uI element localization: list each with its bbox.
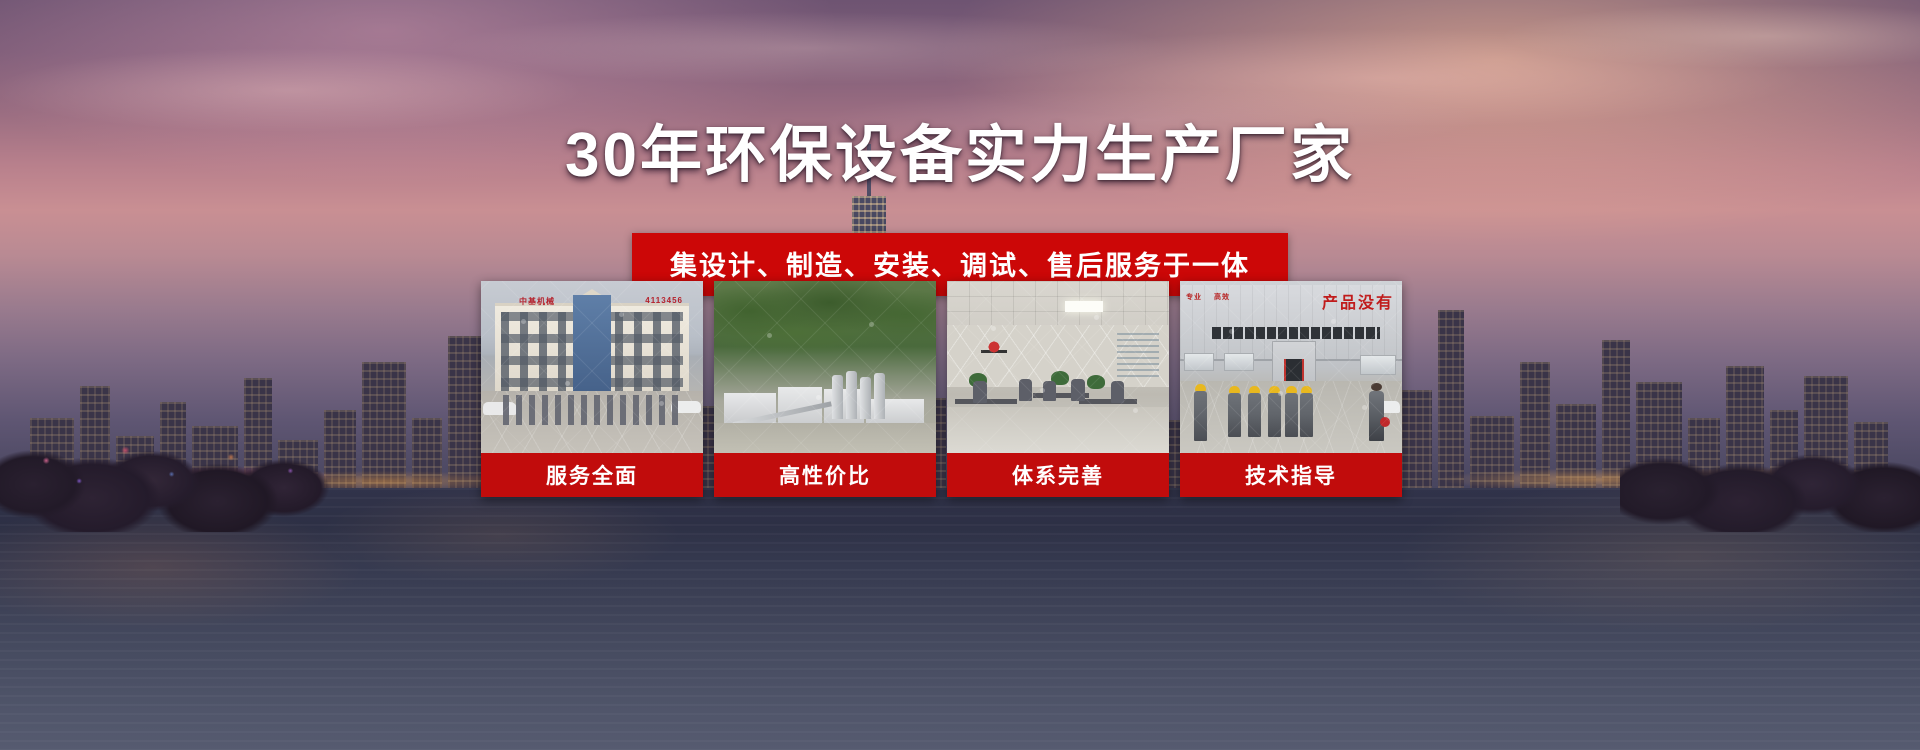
card-photo-aerial-plant xyxy=(714,281,936,453)
feature-card[interactable]: 体系完善 xyxy=(947,281,1169,497)
card-photo-factory-workers: 专业 高效 产品没有 xyxy=(1180,281,1402,453)
feature-card-row: 中基机械 4113456 服务全面 xyxy=(481,281,1439,497)
building-phone-text: 4113456 xyxy=(645,296,683,305)
feature-card[interactable]: 中基机械 4113456 服务全面 xyxy=(481,281,703,497)
feature-card[interactable]: 高性价比 xyxy=(714,281,936,497)
factory-slogan-2: 高效 xyxy=(1214,293,1230,302)
building-sign-text: 中基机械 xyxy=(519,296,555,307)
foliage-right xyxy=(1620,362,1920,532)
card-photo-office-interior xyxy=(947,281,1169,453)
feature-card[interactable]: 专业 高效 产品没有 xyxy=(1180,281,1402,497)
subtitle-text: 集设计、制造、安装、调试、售后服务于一体 xyxy=(670,251,1250,281)
card-caption: 服务全面 xyxy=(481,453,703,497)
card-caption: 高性价比 xyxy=(714,453,936,497)
page-title: 30年环保设备实力生产厂家 xyxy=(0,104,1920,194)
foliage-left xyxy=(0,362,330,532)
factory-slogan-1: 专业 xyxy=(1186,293,1202,302)
factory-wall-banner-text: 产品没有 xyxy=(1322,289,1394,313)
hero-banner: 30年环保设备实力生产厂家 集设计、制造、安装、调试、售后服务于一体 中基机械 … xyxy=(0,0,1920,750)
card-photo-company-building: 中基机械 4113456 xyxy=(481,281,703,453)
card-caption: 体系完善 xyxy=(947,453,1169,497)
card-caption: 技术指导 xyxy=(1180,453,1402,497)
